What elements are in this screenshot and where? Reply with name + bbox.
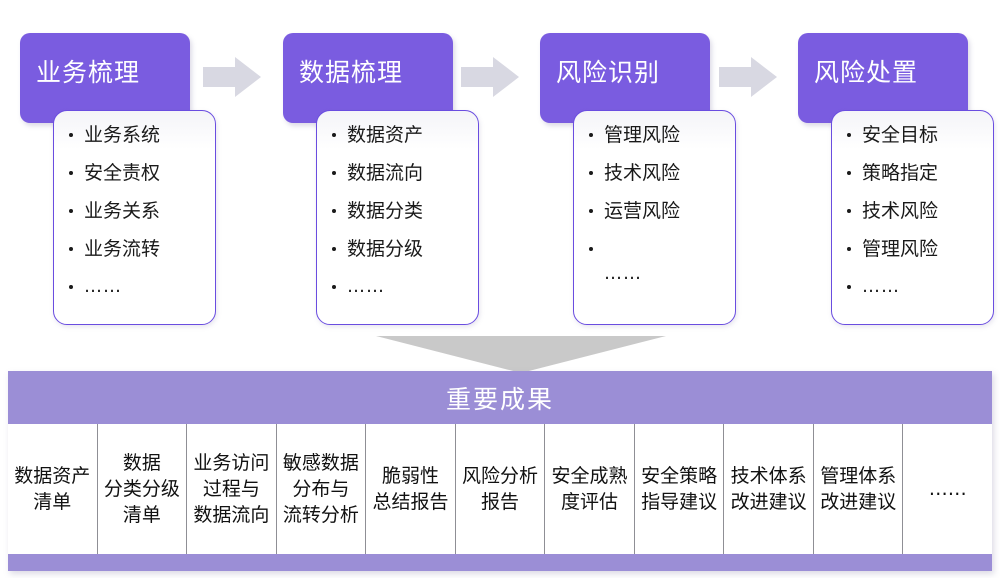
- stage-bullet-list: 业务系统安全责权业务关系业务流转……: [54, 125, 215, 297]
- flow-stage-3: 风险识别管理风险技术风险运营风险……: [540, 0, 755, 340]
- stage-title: 风险识别: [556, 58, 660, 88]
- result-cell: 敏感数据 分布与 流转分析: [277, 424, 367, 554]
- list-item: 技术风险: [832, 201, 993, 221]
- list-item: 安全目标: [832, 125, 993, 145]
- list-item: 数据分级: [317, 239, 478, 259]
- list-item: 数据分类: [317, 201, 478, 221]
- list-item: ……: [54, 277, 215, 297]
- stage-bullet-list: 管理风险技术风险运营风险……: [574, 125, 735, 284]
- results-header: 重要成果: [8, 371, 992, 424]
- list-item: 业务系统: [54, 125, 215, 145]
- results-footer-bar: [8, 554, 992, 571]
- stage-title: 业务梳理: [36, 58, 140, 88]
- stage-title: 数据梳理: [299, 58, 403, 88]
- list-item: 管理风险: [832, 239, 993, 259]
- list-item: 技术风险: [574, 163, 735, 183]
- list-item: [574, 239, 735, 259]
- stage-bullet-list: 数据资产数据流向数据分类数据分级……: [317, 125, 478, 297]
- list-item: 业务关系: [54, 201, 215, 221]
- list-item: 业务流转: [54, 239, 215, 259]
- stage-card-3: 管理风险技术风险运营风险……: [573, 110, 736, 325]
- list-item: 管理风险: [574, 125, 735, 145]
- result-cell: 风险分析 报告: [456, 424, 546, 554]
- result-cell: 数据 分类分级 清单: [98, 424, 188, 554]
- result-cell: 安全成熟 度评估: [545, 424, 635, 554]
- list-item: 数据资产: [317, 125, 478, 145]
- result-cell: ……: [903, 424, 992, 554]
- result-cell: 技术体系 改进建议: [724, 424, 814, 554]
- list-item: 策略指定: [832, 163, 993, 183]
- stage-title: 风险处置: [814, 58, 918, 88]
- flow-stage-2: 数据梳理数据资产数据流向数据分类数据分级……: [283, 0, 498, 340]
- list-item: ……: [317, 277, 478, 297]
- list-item: 运营风险: [574, 201, 735, 221]
- stage-card-2: 数据资产数据流向数据分类数据分级……: [316, 110, 479, 325]
- result-cell: 管理体系 改进建议: [814, 424, 904, 554]
- diagram-canvas: 业务梳理业务系统安全责权业务关系业务流转……数据梳理数据资产数据流向数据分类数据…: [0, 0, 1000, 578]
- result-cell: 安全策略 指导建议: [635, 424, 725, 554]
- results-title: 重要成果: [446, 380, 554, 416]
- result-cell: 脆弱性 总结报告: [366, 424, 456, 554]
- flow-stage-1: 业务梳理业务系统安全责权业务关系业务流转……: [20, 0, 235, 340]
- list-item: ……: [574, 263, 735, 284]
- list-item: 数据流向: [317, 163, 478, 183]
- down-arrow-icon: [376, 334, 666, 374]
- stage-bullet-list: 安全目标策略指定技术风险管理风险……: [832, 125, 993, 297]
- stage-card-1: 业务系统安全责权业务关系业务流转……: [53, 110, 216, 325]
- result-cell: 数据资产 清单: [8, 424, 98, 554]
- stage-card-4: 安全目标策略指定技术风险管理风险……: [831, 110, 994, 325]
- results-grid: 数据资产 清单数据 分类分级 清单业务访问 过程与 数据流向敏感数据 分布与 流…: [8, 424, 992, 554]
- flow-stage-4: 风险处置安全目标策略指定技术风险管理风险……: [798, 0, 1000, 340]
- results-panel: 重要成果 数据资产 清单数据 分类分级 清单业务访问 过程与 数据流向敏感数据 …: [8, 371, 992, 571]
- result-cell: 业务访问 过程与 数据流向: [187, 424, 277, 554]
- list-item: ……: [832, 277, 993, 297]
- list-item: 安全责权: [54, 163, 215, 183]
